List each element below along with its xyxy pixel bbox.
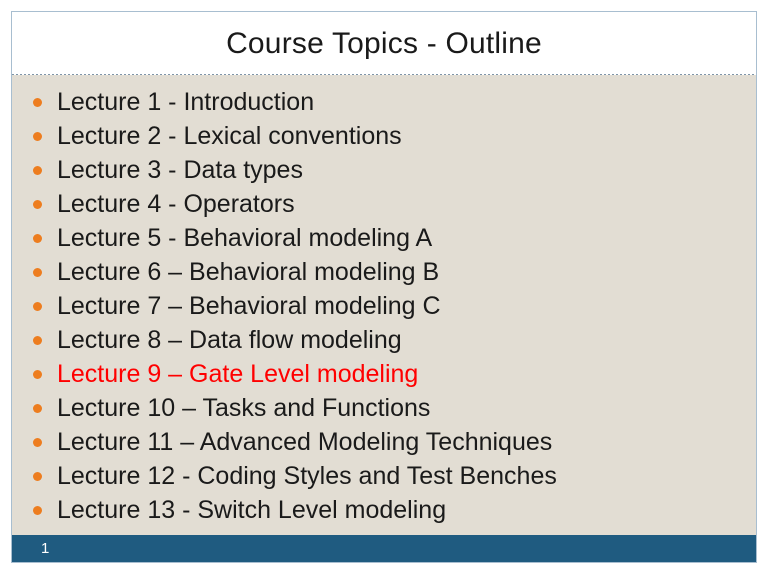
footer-bar: 1 (12, 535, 756, 562)
list-item: Lecture 2 - Lexical conventions (12, 119, 756, 153)
bullet-dot-icon (33, 132, 42, 141)
list-item-label: Lecture 8 – Data flow modeling (57, 326, 402, 354)
list-item: Lecture 3 - Data types (12, 153, 756, 187)
list-item: Lecture 6 – Behavioral modeling B (12, 255, 756, 289)
bullet-dot-icon (33, 472, 42, 481)
list-item: Lecture 11 – Advanced Modeling Technique… (12, 425, 756, 459)
list-item-label: Lecture 1 - Introduction (57, 88, 314, 116)
list-item-label: Lecture 12 - Coding Styles and Test Benc… (57, 462, 557, 490)
bullet-dot-icon (33, 404, 42, 413)
list-item-label: Lecture 3 - Data types (57, 156, 303, 184)
bullet-dot-icon (33, 302, 42, 311)
slide-canvas: Course Topics - Outline Lecture 1 - Intr… (11, 11, 757, 563)
list-item: Lecture 1 - Introduction (12, 85, 756, 119)
list-item: Lecture 5 - Behavioral modeling A (12, 221, 756, 255)
list-item-label: Lecture 4 - Operators (57, 190, 295, 218)
slide-title-area: Course Topics - Outline (12, 12, 756, 74)
page-title: Course Topics - Outline (226, 27, 542, 60)
slide-body: Lecture 1 - IntroductionLecture 2 - Lexi… (12, 75, 756, 562)
list-item-label: Lecture 7 – Behavioral modeling C (57, 292, 441, 320)
list-item: Lecture 4 - Operators (12, 187, 756, 221)
outline-list: Lecture 1 - IntroductionLecture 2 - Lexi… (12, 85, 756, 527)
list-item-label: Lecture 5 - Behavioral modeling A (57, 224, 432, 252)
list-item: Lecture 7 – Behavioral modeling C (12, 289, 756, 323)
list-item-label: Lecture 13 - Switch Level modeling (57, 496, 446, 524)
list-item: Lecture 10 – Tasks and Functions (12, 391, 756, 425)
list-item-label: Lecture 2 - Lexical conventions (57, 122, 402, 150)
bullet-dot-icon (33, 234, 42, 243)
bullet-dot-icon (33, 98, 42, 107)
bullet-dot-icon (33, 370, 42, 379)
page-number: 1 (41, 541, 49, 556)
list-item-label: Lecture 10 – Tasks and Functions (57, 394, 430, 422)
bullet-dot-icon (33, 200, 42, 209)
list-item-label: Lecture 6 – Behavioral modeling B (57, 258, 439, 286)
bullet-dot-icon (33, 506, 42, 515)
list-item: Lecture 9 – Gate Level modeling (12, 357, 756, 391)
list-item: Lecture 13 - Switch Level modeling (12, 493, 756, 527)
bullet-dot-icon (33, 166, 42, 175)
list-item: Lecture 12 - Coding Styles and Test Benc… (12, 459, 756, 493)
bullet-dot-icon (33, 438, 42, 447)
list-item: Lecture 8 – Data flow modeling (12, 323, 756, 357)
bullet-dot-icon (33, 268, 42, 277)
list-item-label: Lecture 9 – Gate Level modeling (57, 360, 418, 388)
list-item-label: Lecture 11 – Advanced Modeling Technique… (57, 428, 552, 456)
bullet-dot-icon (33, 336, 42, 345)
